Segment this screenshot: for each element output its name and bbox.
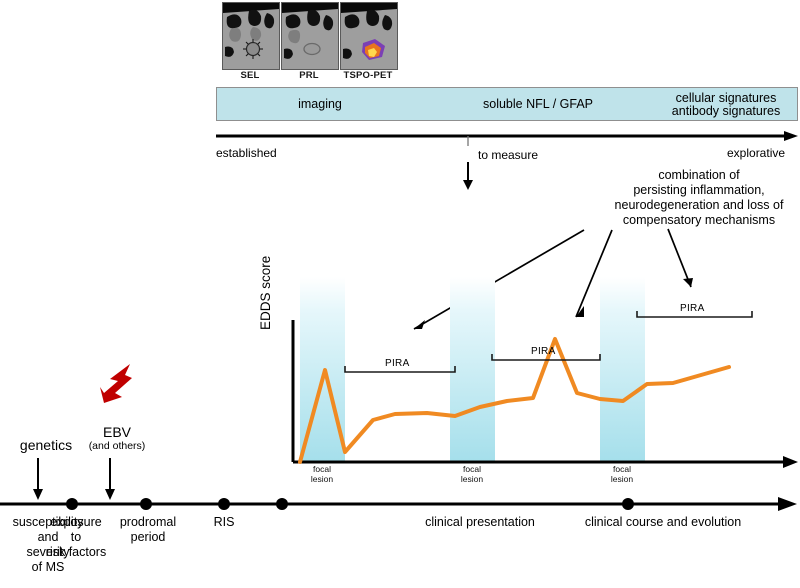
panel-label-tspo-pet: TSPO-PET — [340, 70, 396, 81]
panel-label-prl: PRL — [281, 70, 337, 81]
band-label-soluble: soluble NFL / GFAP — [483, 98, 593, 112]
focal-lesion-label: focal lesion — [292, 464, 352, 484]
stage-clinical-presentation-label: clinical presentation — [390, 515, 570, 530]
focal-lesion-label: focal lesion — [442, 464, 502, 484]
panel-label-sel: SEL — [222, 70, 278, 81]
ebv-arrow — [102, 458, 122, 502]
panel-sel — [222, 2, 280, 70]
band-cell-imaging: imaging — [217, 88, 423, 122]
band-cell-soluble: soluble NFL / GFAP — [423, 88, 653, 122]
focal-lesion-band — [600, 277, 645, 462]
spectrum-right-label: explorative — [727, 146, 785, 160]
edss-line — [300, 339, 729, 462]
pira-label: PIRA — [385, 358, 410, 369]
timeline-arrowhead — [778, 497, 797, 511]
timeline-dot — [622, 498, 634, 510]
stage-ris-label: RIS — [186, 515, 262, 530]
focal-lesion-label: focal lesion — [592, 464, 652, 484]
combination-note: combination of persisting inflammation, … — [574, 168, 800, 228]
to-measure-arrow — [460, 136, 520, 192]
lightning-bolt-icon — [98, 362, 136, 406]
band-cell-signatures: cellular signatures antibody signatures — [653, 88, 799, 122]
focal-lesion-band — [450, 277, 495, 462]
tspo-pet-brain-image — [341, 3, 397, 69]
timeline-dot — [140, 498, 152, 510]
pira-label: PIRA — [680, 303, 705, 314]
panel-tspo-pet — [340, 2, 398, 70]
genetics-arrow — [30, 458, 50, 502]
chart-x-axis-arrowhead — [783, 456, 798, 468]
ebv-label: EBV (and others) — [72, 424, 162, 452]
spectrum-left-label: established — [216, 146, 277, 160]
biomarker-band: imaging soluble NFL / GFAP cellular sign… — [216, 87, 798, 121]
stage-clinical-course-label: clinical course and evolution — [548, 515, 778, 530]
band-label-imaging: imaging — [298, 98, 342, 112]
timeline-dot — [276, 498, 288, 510]
pira-label: PIRA — [531, 346, 556, 357]
ebv-sub-label: (and others) — [72, 440, 162, 452]
stage-prodromal-label: prodromal period — [100, 515, 196, 545]
prl-brain-image — [282, 3, 338, 69]
timeline-dot — [66, 498, 78, 510]
band-label-signatures: cellular signatures antibody signatures — [672, 92, 780, 119]
edss-chart — [255, 262, 800, 472]
disease-timeline — [0, 497, 800, 511]
sel-brain-image — [223, 3, 279, 69]
panel-prl — [281, 2, 339, 70]
timeline-dot — [218, 498, 230, 510]
ebv-main-label: EBV — [72, 424, 162, 440]
